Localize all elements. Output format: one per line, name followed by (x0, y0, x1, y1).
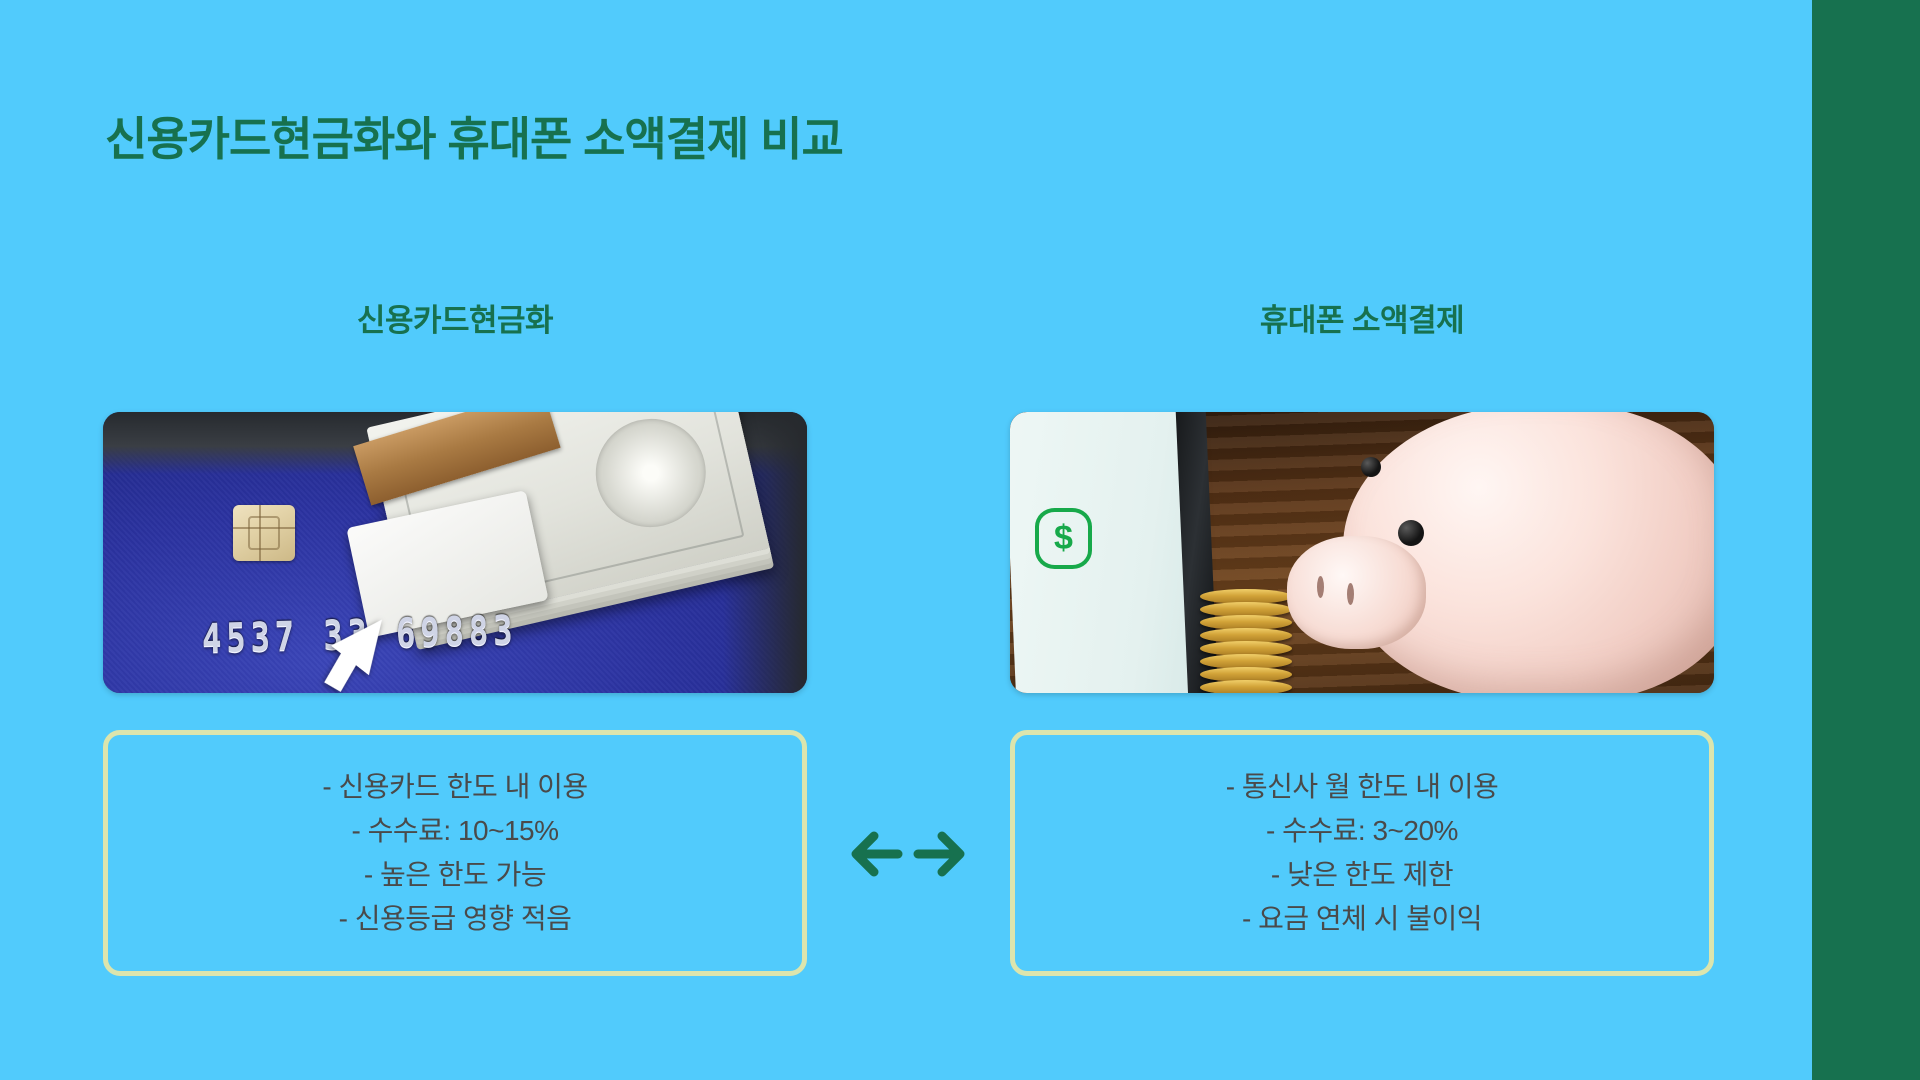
info-line: - 높은 한도 가능 (364, 859, 546, 891)
piggy-bank (1278, 412, 1714, 693)
card-chip-icon (233, 505, 295, 561)
info-box-credit-card: - 신용카드 한도 내 이용 - 수수료: 10~15% - 높은 한도 가능 … (103, 730, 807, 976)
info-line: - 신용등급 영향 적음 (339, 903, 572, 935)
credit-card-cash-photo: 4537 33 69883 (103, 412, 807, 693)
info-line: - 수수료: 3~20% (1266, 815, 1458, 847)
right-accent-strip (1812, 0, 1920, 1080)
piggy-eye (1398, 520, 1424, 546)
phone-piggybank-photo: $ (1010, 412, 1714, 693)
info-line: - 신용카드 한도 내 이용 (322, 771, 587, 803)
info-line: - 통신사 월 한도 내 이용 (1226, 771, 1499, 803)
info-line: - 수수료: 10~15% (352, 815, 559, 847)
info-line: - 낮은 한도 제한 (1271, 859, 1453, 891)
info-line: - 요금 연체 시 불이익 (1242, 903, 1482, 935)
dollar-icon: $ (1035, 508, 1093, 570)
info-box-mobile-payment: - 통신사 월 한도 내 이용 - 수수료: 3~20% - 낮은 한도 제한 … (1010, 730, 1714, 976)
slide-canvas: 신용카드현금화와 휴대폰 소액결제 비교 신용카드현금화 4537 33 698… (0, 0, 1812, 1080)
piggy-eye (1361, 457, 1381, 477)
column-heading-credit-card: 신용카드현금화 (103, 295, 807, 340)
page-title: 신용카드현금화와 휴대폰 소액결제 비교 (105, 103, 843, 169)
left-right-arrow-icon (835, 818, 980, 890)
column-heading-mobile-payment: 휴대폰 소액결제 (1010, 295, 1714, 340)
piggy-snout (1287, 536, 1426, 649)
